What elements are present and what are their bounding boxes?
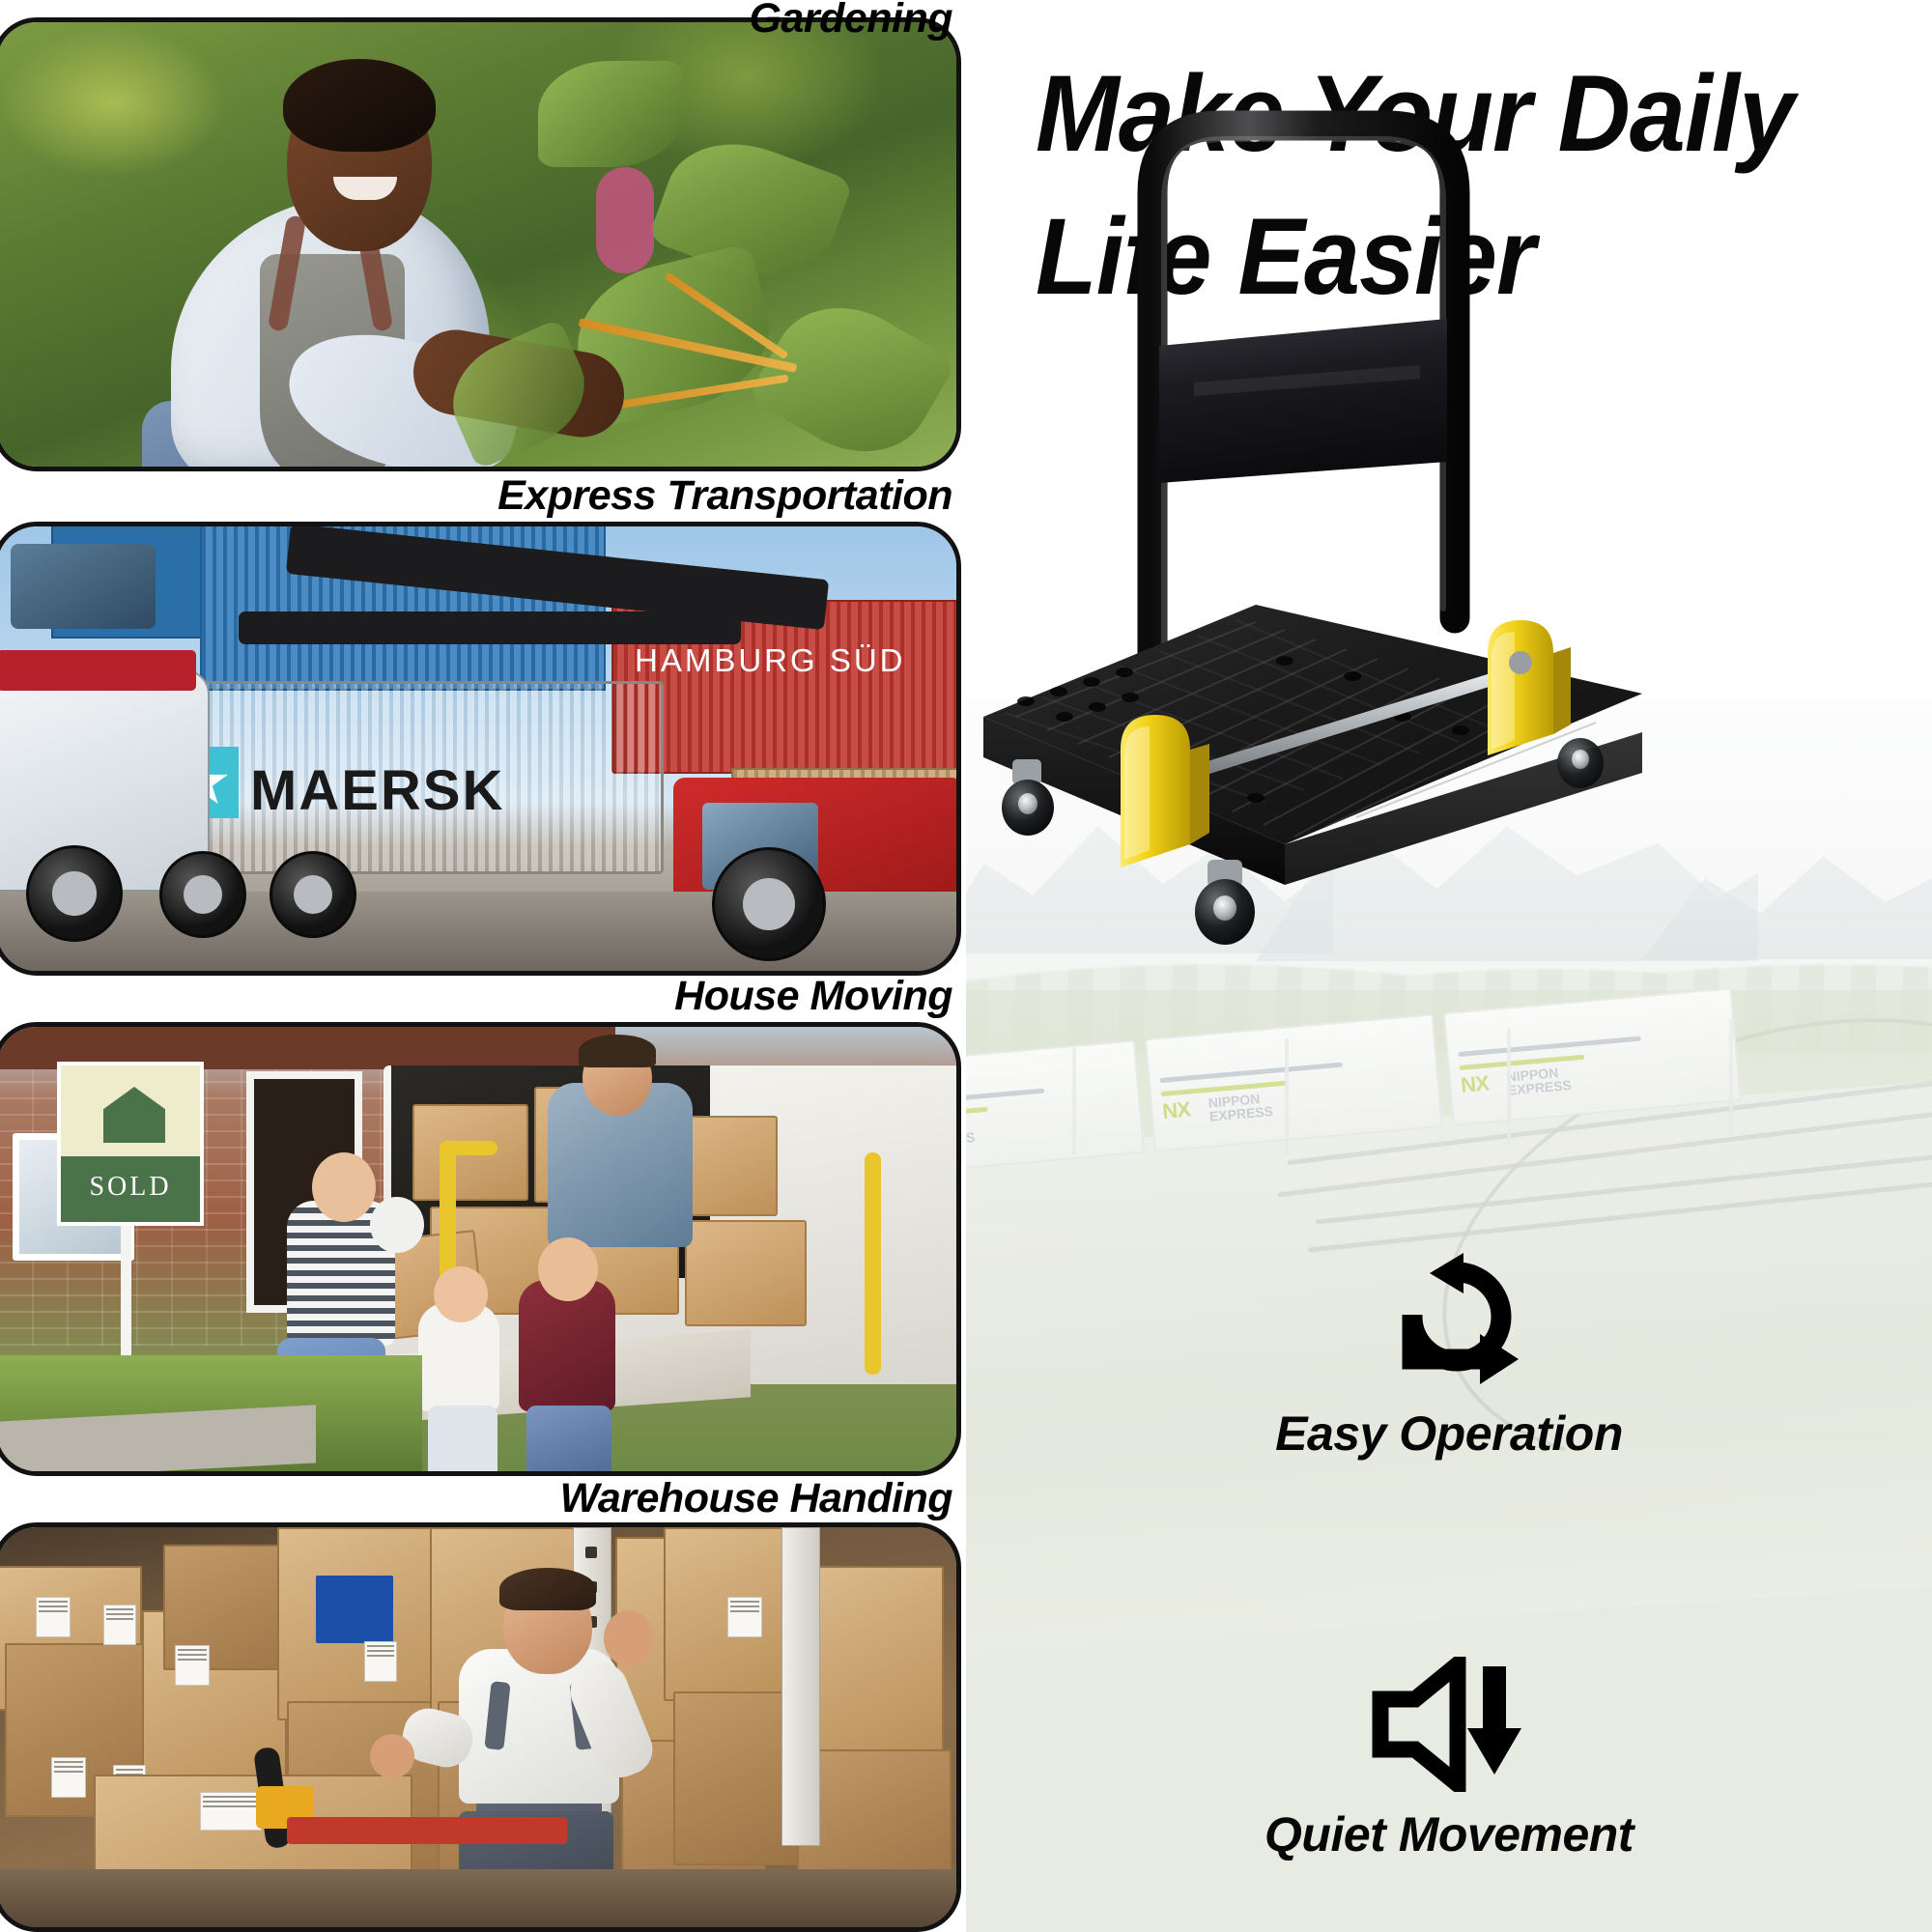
product-showcase-column: NX NIPPONEXPRESS NX NIPPONEXPRESS NX NIP… [966, 0, 1932, 1932]
use-case-panel-column: Gardening HAMBURG SÜD MAERSK [0, 0, 966, 1932]
hamburg-sud-container-text: HAMBURG SÜD [635, 642, 906, 679]
use-case-panel-express-transportation: HAMBURG SÜD MAERSK [0, 522, 961, 976]
sold-sign: SOLD [57, 1062, 204, 1226]
caption-house-moving: House Moving [674, 976, 952, 1017]
feature-easy-operation: Easy Operation [966, 1241, 1932, 1462]
use-case-panel-gardening [0, 17, 961, 471]
caption-express-transportation: Express Transportation [497, 475, 952, 517]
rotate-arrow-icon [966, 1241, 1932, 1406]
caption-warehouse-handing: Warehouse Handing [560, 1478, 952, 1520]
cart-hinge-lock-right [1488, 620, 1571, 755]
feature-quiet-movement: Quiet Movement [966, 1642, 1932, 1862]
feature-label-quiet-movement: Quiet Movement [966, 1806, 1932, 1862]
house-moving-photo: SOLD [0, 1027, 956, 1471]
platform-cart-product-image [966, 0, 1932, 966]
use-case-panel-house-moving: SOLD [0, 1022, 961, 1476]
express-transportation-photo: HAMBURG SÜD MAERSK [0, 526, 956, 971]
caption-gardening: Gardening [749, 0, 952, 40]
gardening-photo [0, 22, 956, 467]
maersk-container-text: MAERSK [250, 758, 504, 823]
cart-back-plate [1159, 319, 1447, 483]
product-marketing-image: Gardening HAMBURG SÜD MAERSK [0, 0, 1932, 1932]
speaker-down-arrow-icon [966, 1642, 1932, 1806]
feature-label-easy-operation: Easy Operation [966, 1406, 1932, 1462]
sold-sign-text: SOLD [61, 1172, 200, 1203]
warehouse-photo [0, 1527, 956, 1927]
use-case-panel-warehouse-handing [0, 1522, 961, 1932]
cart-caster-rear-right [1557, 738, 1604, 788]
cart-caster-front [1195, 860, 1255, 945]
